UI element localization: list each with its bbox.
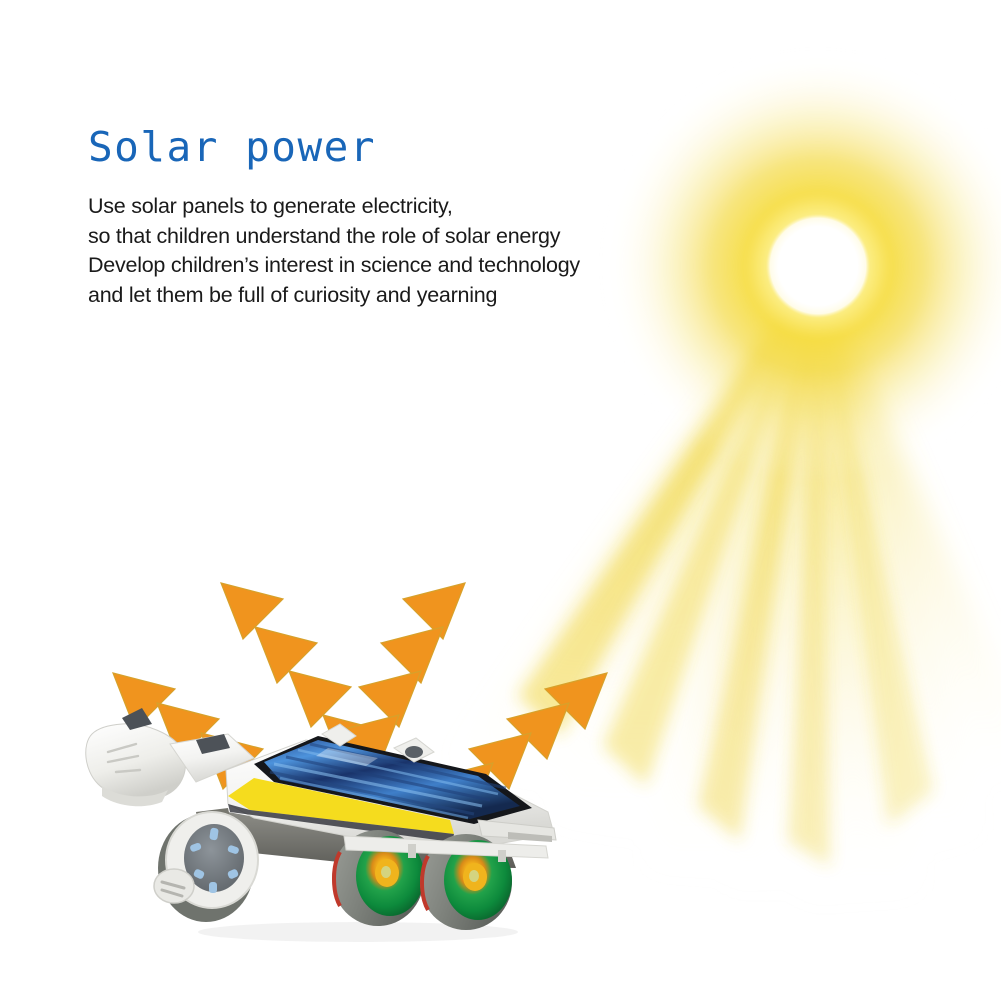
rear-hub-core-left [381,866,391,878]
description-line-2: so that children understand the role of … [88,222,688,252]
page-title: Solar power [88,126,688,169]
rear-hub-core-right [469,870,479,882]
text-block: Solar power Use solar panels to generate… [88,126,688,310]
fender-rib-1 [408,844,416,858]
product-feature-slide: Solar power Use solar panels to generate… [0,0,1001,1001]
nose-fairing [86,724,186,800]
description-line-1: Use solar panels to generate electricity… [88,192,688,222]
description-line-4: and let them be full of curiosity and ye… [88,281,688,311]
cowl-bump-hole [405,746,423,758]
solar-powered-toy-car [78,700,598,950]
description-paragraph: Use solar panels to generate electricity… [88,192,688,310]
sun-disc [766,214,870,318]
description-line-3: Develop children’s interest in science a… [88,251,688,281]
fender-rib-2 [498,850,506,862]
